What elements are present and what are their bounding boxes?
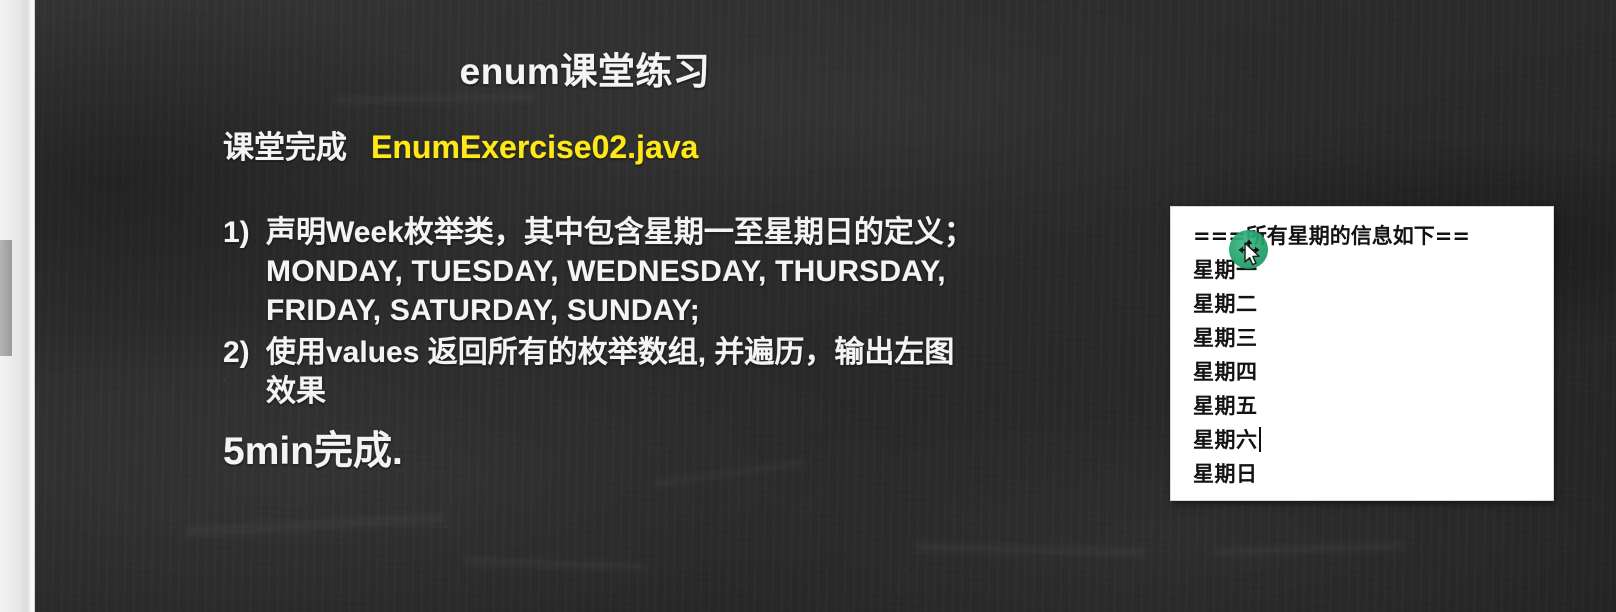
bullet-line: 声明Week枚举类，其中包含星期一至星期日的定义；	[266, 213, 1103, 252]
scrollbar-track[interactable]	[22, 0, 23, 612]
chalkboard-slide: enum课堂练习 课堂完成 EnumExercise02.java 1) 声明W…	[35, 0, 1616, 612]
subtitle-row: 课堂完成 EnumExercise02.java	[223, 122, 698, 167]
bullet-line: MONDAY, TUESDAY, WEDNESDAY, THURSDAY,	[266, 252, 1103, 291]
bullet-line: 效果	[266, 372, 1103, 411]
bullet-marker: 2)	[223, 333, 266, 372]
chalk-smudge	[655, 460, 804, 487]
chalk-smudge	[185, 513, 445, 537]
chalk-smudge	[1215, 542, 1405, 557]
time-limit-note: 5min完成.	[223, 420, 403, 476]
text-caret-icon	[1259, 427, 1261, 452]
console-output-panel: ===所有星期的信息如下== 星期一 星期二 星期三 星期四 星期五 星期六 星…	[1171, 207, 1553, 500]
bullet-marker: 1)	[223, 213, 266, 252]
console-line: 星期二	[1193, 287, 1549, 321]
console-line: 星期四	[1193, 355, 1549, 389]
exercise-filename: EnumExercise02.java	[371, 129, 698, 166]
console-header-line: ===所有星期的信息如下==	[1193, 219, 1549, 253]
list-item: 2) 使用values 返回所有的枚举数组, 并遍历，输出左图 效果	[223, 333, 1103, 411]
slide-screenshot: enum课堂练习 课堂完成 EnumExercise02.java 1) 声明W…	[0, 0, 1616, 612]
chalk-smudge	[465, 557, 645, 571]
console-output-text: ===所有星期的信息如下== 星期一 星期二 星期三 星期四 星期五 星期六 星…	[1193, 219, 1549, 500]
chalk-smudge	[915, 542, 1145, 557]
bullet-body: 使用values 返回所有的枚举数组, 并遍历，输出左图 效果	[266, 333, 1103, 411]
console-line-with-caret: 星期六	[1193, 423, 1549, 457]
vertical-scrollbar[interactable]	[0, 0, 35, 612]
slide-title: enum课堂练习	[35, 41, 1135, 95]
bullet-body: 声明Week枚举类，其中包含星期一至星期日的定义； MONDAY, TUESDA…	[266, 213, 1103, 330]
console-line: 星期六	[1193, 428, 1258, 452]
console-line: 星期五	[1193, 389, 1549, 423]
list-item: 1) 声明Week枚举类，其中包含星期一至星期日的定义； MONDAY, TUE…	[223, 213, 1103, 330]
console-line: 星期日	[1193, 457, 1549, 491]
scrollbar-thumb[interactable]	[0, 240, 12, 356]
requirements-list: 1) 声明Week枚举类，其中包含星期一至星期日的定义； MONDAY, TUE…	[223, 213, 1103, 411]
bullet-line: FRIDAY, SATURDAY, SUNDAY;	[266, 291, 1103, 330]
console-line: 星期三	[1193, 321, 1549, 355]
console-line: 星期一	[1193, 253, 1549, 287]
bullet-line: 使用values 返回所有的枚举数组, 并遍历，输出左图	[266, 333, 1103, 372]
subtitle-label: 课堂完成	[223, 122, 347, 167]
